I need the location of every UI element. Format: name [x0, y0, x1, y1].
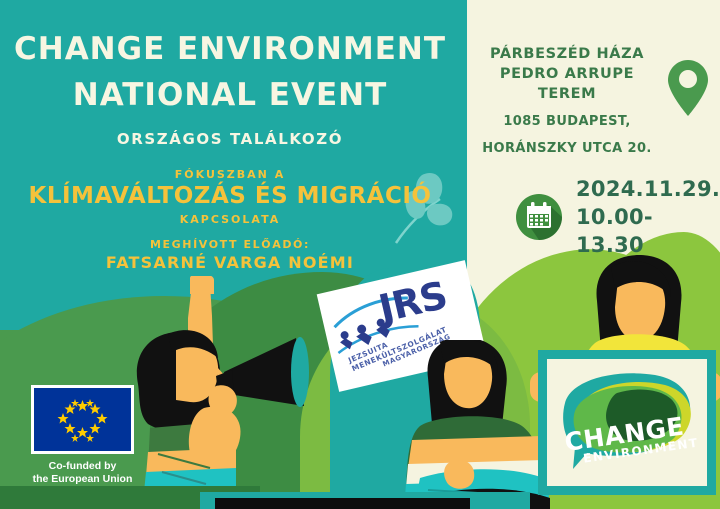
venue-name-line-1: PÁRBESZÉD HÁZA [472, 44, 662, 64]
bottom-strip-black [215, 498, 470, 509]
location-pin-icon [668, 60, 708, 116]
event-poster: CHANGE ENVIRONMENT NATIONAL EVENT ORSZÁG… [0, 0, 720, 509]
eu-funding-caption: Co-funded by the European Union [25, 460, 140, 486]
board-artwork: CHANGE ENVIRONMENT [547, 359, 707, 486]
woman-with-megaphone-illustration [128, 276, 343, 509]
headline-line-1: CHANGE ENVIRONMENT [14, 31, 446, 67]
focus-topic: KLÍMAVÁLTOZÁS ÉS MIGRÁCIÓ [0, 183, 460, 209]
speaker-label: MEGHÍVOTT ELŐADÓ: [0, 238, 460, 251]
venue-name-line-2: PEDRO ARRUPE TEREM [472, 64, 662, 104]
poster-headline: CHANGE ENVIRONMENT NATIONAL EVENT [0, 26, 460, 118]
venue-address-line-2: HORÁNSZKY UTCA 20. [472, 139, 662, 158]
european-union-flag-icon [31, 385, 134, 454]
eu-funding-block: Co-funded by the European Union [25, 385, 140, 486]
focus-label: FÓKUSZBAN A [0, 168, 460, 181]
event-date: 2024.11.29. [576, 175, 720, 203]
eu-caption-line-1: Co-funded by [25, 460, 140, 473]
focus-topic-suffix: KAPCSOLATA [0, 213, 460, 226]
speaker-name: FATSARNÉ VARGA NOÉMI [0, 253, 460, 272]
schedule-block: 2024.11.29. 10.00-13.30 [516, 175, 720, 259]
calendar-icon [516, 194, 562, 240]
venue-block: PÁRBESZÉD HÁZA PEDRO ARRUPE TEREM 1085 B… [472, 44, 662, 158]
schedule-text: 2024.11.29. 10.00-13.30 [576, 175, 720, 259]
venue-address-line-1: 1085 BUDAPEST, [472, 112, 662, 131]
headline-line-2: NATIONAL EVENT [0, 72, 460, 118]
event-time: 10.00-13.30 [576, 203, 720, 259]
eu-caption-line-2: the European Union [25, 473, 140, 486]
change-environment-board: CHANGE ENVIRONMENT [538, 350, 716, 495]
poster-subtitle: ORSZÁGOS TALÁLKOZÓ [0, 130, 460, 148]
